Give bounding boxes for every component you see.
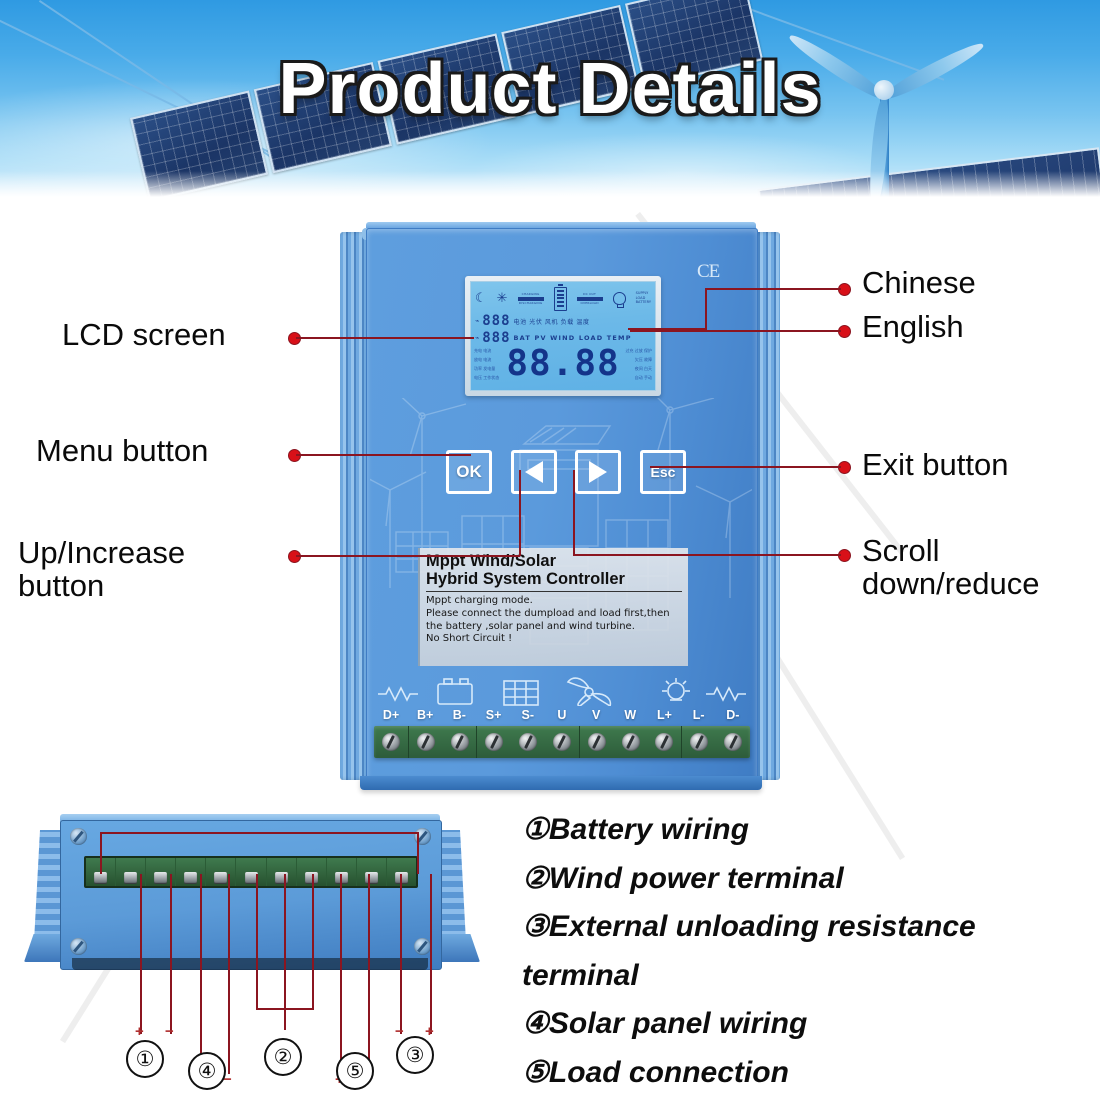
right-arrow-button[interactable] (575, 450, 621, 494)
terminal-label-s-plus: S+ (479, 708, 509, 722)
polarity-3-plus: + (425, 1024, 434, 1039)
terminal-label-u: U (547, 708, 577, 722)
row-chinese-marker: ⌁ (475, 317, 479, 325)
plate-divider (426, 591, 682, 592)
legend-item-1: ①Battery wiring (522, 806, 1092, 855)
row-english-marker: ⌁ (475, 334, 479, 342)
bottom-number-5: ⑤ (336, 1052, 374, 1090)
callout-line-up-increase-v (519, 470, 521, 556)
terminal-label-d-minus: D- (718, 708, 748, 722)
terminal-screw[interactable] (614, 726, 648, 758)
output-bar (577, 297, 603, 301)
legend-item-2: ②Wind power terminal (522, 855, 1092, 904)
lcd-screen: ☾ ✳ CHARGING DISCHARGING DC OUT OVERLOAD (465, 276, 661, 396)
terminal-screw[interactable] (545, 726, 580, 758)
terminal-label-b-plus: B+ (410, 708, 440, 722)
bottom-number-3: ③ (396, 1036, 434, 1074)
polarity-1-plus: + (135, 1024, 144, 1039)
bottom-leader-2-b (284, 874, 286, 1008)
terminal-label-s-minus: S- (513, 708, 543, 722)
lcd-status-lines: SUPPLY LOAD BATTERY (636, 292, 651, 306)
charging-bar (518, 297, 544, 301)
resistor-icon (706, 688, 746, 700)
bottom-device-shadow (72, 958, 428, 970)
terminal-label-v: V (581, 708, 611, 722)
callout-line-menu-button (296, 454, 471, 456)
esc-button[interactable]: Esc (640, 450, 686, 494)
plate-title-line2: Hybrid System Controller (426, 570, 682, 588)
callout-line-exit-button (650, 466, 841, 468)
bulb-icon (613, 292, 626, 305)
bottom-leader-2-stem (284, 1008, 286, 1030)
charging-indicator: CHARGING DISCHARGING (518, 293, 544, 305)
callout-chinese: Chinese (862, 266, 976, 299)
output-indicator: DC OUT OVERLOAD (577, 293, 603, 305)
lcd-display: ☾ ✳ CHARGING DISCHARGING DC OUT OVERLOAD (470, 281, 656, 391)
bottom-leader-2-a (256, 874, 258, 1008)
callout-line-up-increase-h (296, 555, 520, 557)
left-arrow-button[interactable] (511, 450, 557, 494)
terminal-screw[interactable] (374, 726, 409, 758)
terminal-icon-row (376, 676, 748, 706)
callout-exit-button: Exit button (862, 448, 1008, 481)
bottom-leader-top-v1 (100, 832, 102, 874)
callout-english: English (862, 310, 964, 343)
battery-icon (438, 679, 472, 704)
bottom-terminal[interactable] (236, 858, 266, 886)
terminal-strip[interactable] (374, 726, 750, 758)
bottom-leader-5-minus (368, 874, 370, 1074)
terminal-label-d-plus: D+ (376, 708, 406, 722)
bottom-leader-1-plus (140, 874, 142, 1034)
terminal-screw[interactable] (682, 726, 716, 758)
terminal-label-b-minus: B- (444, 708, 474, 722)
moon-icon: ☾ (475, 292, 487, 305)
terminal-screw[interactable] (511, 726, 545, 758)
bottom-terminal[interactable] (206, 858, 236, 886)
bottom-leader-3-plus (430, 874, 432, 1034)
terminal-screw[interactable] (648, 726, 683, 758)
banner-fade (0, 171, 1100, 197)
bottom-terminal[interactable] (357, 858, 387, 886)
resistor-icon (378, 688, 418, 700)
terminal-label-w: W (615, 708, 645, 722)
callout-line-english (630, 330, 841, 332)
bottom-number-1: ① (126, 1040, 164, 1078)
callout-line-chinese-h1 (705, 288, 841, 290)
wind-turbine-icon (568, 678, 610, 706)
callout-line-scroll-v (573, 470, 575, 555)
bottom-leader-4-minus (228, 874, 230, 1074)
legend-list: ①Battery wiring ②Wind power terminal ③Ex… (522, 806, 1092, 1098)
terminal-labels: D+ B+ B- S+ S- U V W L+ L- D- (376, 708, 748, 722)
bottom-leader-5-plus (340, 874, 342, 1074)
terminal-screw[interactable] (443, 726, 478, 758)
output-label-bottom: OVERLOAD (581, 302, 599, 305)
callout-line-lcd-screen (296, 337, 474, 339)
status-line-supply: SUPPLY (636, 292, 651, 296)
output-label-top: DC OUT (583, 293, 596, 296)
lcd-chinese-labels: 电池 光伏 风机 负载 温度 (514, 317, 590, 326)
controller-bottom-edge (360, 776, 762, 790)
bottom-leader-1-minus (170, 874, 172, 1034)
product-details-page: Product Details © CE (0, 0, 1100, 1100)
charging-label-top: CHARGING (522, 293, 540, 296)
polarity-3-minus: − (395, 1024, 404, 1039)
terminal-screw[interactable] (580, 726, 614, 758)
sun-icon: ✳ (497, 292, 508, 305)
lcd-main-value: 88.88 (471, 346, 655, 382)
legend-item-4: ④Solar panel wiring (522, 1000, 1092, 1049)
callout-lcd-screen: LCD screen (62, 318, 226, 351)
legend-item-3: ③External unloading resistance terminal (522, 903, 1092, 1000)
terminal-label-l-minus: L- (684, 708, 714, 722)
terminal-screw[interactable] (716, 726, 750, 758)
bottom-number-2: ② (264, 1038, 302, 1076)
battery-icon (554, 287, 567, 311)
callout-line-scroll-h (573, 554, 841, 556)
lcd-chinese-digits: 888 (482, 314, 510, 328)
legend-item-5: ⑤Load connection (522, 1049, 1092, 1098)
lamp-icon (662, 678, 690, 700)
bottom-case-screw-br (414, 938, 431, 955)
product-label-plate: Mppt Wind/Solar Hybrid System Controller… (418, 548, 688, 666)
bottom-leader-3-minus (400, 874, 402, 1034)
bottom-leader-4-plus (200, 874, 202, 1074)
callout-menu-button: Menu button (36, 434, 208, 467)
charging-label-bottom: DISCHARGING (519, 302, 543, 305)
callout-line-chinese-v (705, 288, 707, 329)
left-arrow-icon (525, 461, 543, 483)
ce-mark: CE (697, 261, 719, 283)
solar-panel-icon (504, 681, 538, 705)
lcd-english-labels: BAT PV WIND LOAD TEMP (514, 334, 632, 342)
bottom-leader-top-h (100, 832, 418, 834)
polarity-1-minus: − (165, 1024, 174, 1039)
terminal-label-l-plus: L+ (650, 708, 680, 722)
ok-button[interactable]: OK (446, 450, 492, 494)
page-title: Product Details (0, 48, 1100, 130)
bottom-case-screw-tl (70, 828, 87, 845)
controller-unit: CE (340, 228, 780, 788)
status-line-battery: BATTERY (636, 301, 651, 305)
plate-body-text: Mppt charging mode. Please connect the d… (426, 595, 682, 646)
bottom-leader-2-c (312, 874, 314, 1008)
bottom-number-4: ④ (188, 1052, 226, 1090)
bottom-leader-top-v2 (417, 832, 419, 874)
button-row: OK Esc (446, 450, 686, 494)
callout-scroll-down-reduce: Scroll down/reduce (862, 534, 1040, 601)
right-arrow-icon (589, 461, 607, 483)
bottom-device-body (60, 820, 442, 970)
lcd-row-chinese: ⌁ 888 电池 光伏 风机 负载 温度 (475, 313, 651, 329)
lcd-icon-row: ☾ ✳ CHARGING DISCHARGING DC OUT OVERLOAD (475, 285, 651, 312)
header-banner: Product Details (0, 0, 1100, 197)
terminal-screw[interactable] (477, 726, 511, 758)
terminal-screw[interactable] (409, 726, 443, 758)
callout-up-increase-button: Up/Increase button (18, 536, 185, 603)
bottom-terminal[interactable] (267, 858, 297, 886)
bottom-case-screw-bl (70, 938, 87, 955)
bottom-device-view (22, 812, 482, 992)
